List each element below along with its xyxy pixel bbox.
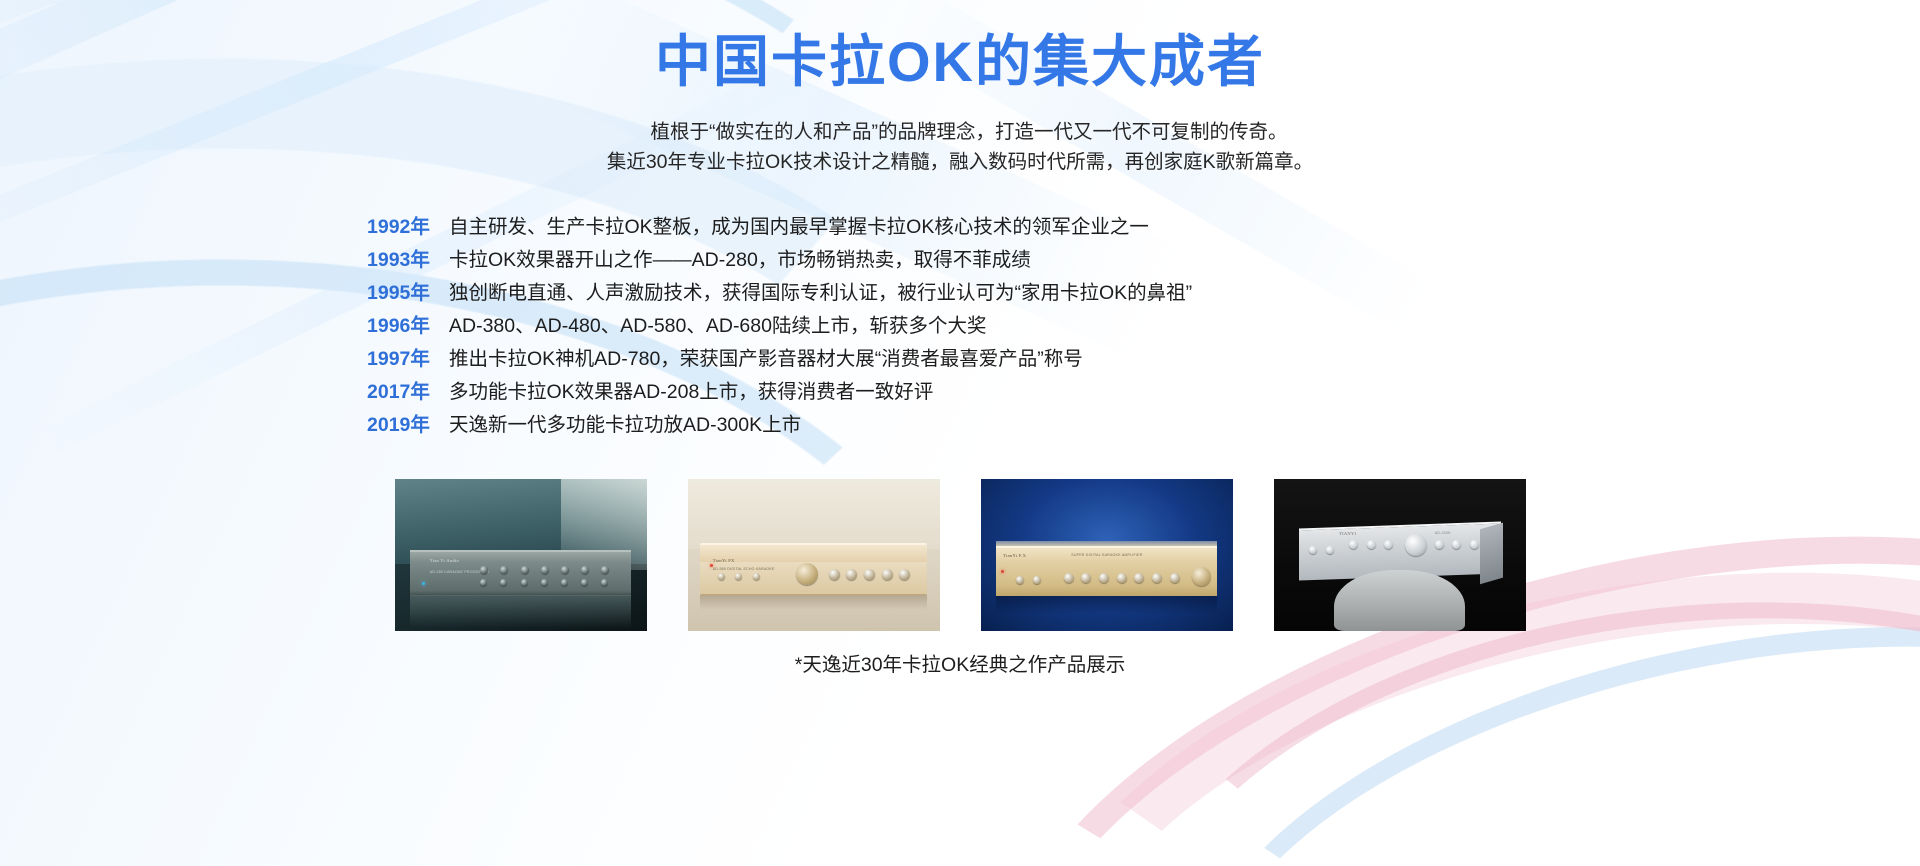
- photo1-knob: [521, 566, 529, 574]
- photo1-brand-text: Tian Yi Audio: [430, 558, 459, 563]
- photo3-knob: [1064, 573, 1074, 583]
- photo1-knob: [541, 579, 548, 586]
- photo1-knob: [480, 566, 488, 574]
- photo2-volume-knob: [796, 563, 818, 585]
- photo3-knob: [1170, 573, 1180, 583]
- photo3-power-led: [1001, 570, 1004, 573]
- photo1-knob: [561, 566, 569, 574]
- photo3-model-text: SUPER DIGITAL KARAOKE AMPLIFIER: [1071, 553, 1142, 557]
- photo4-amplifier-side: [1480, 523, 1503, 584]
- photo4-knob: [1435, 540, 1444, 549]
- timeline-text: 自主研发、生产卡拉OK整板，成为国内最早掌握卡拉OK核心技术的领军企业之一: [441, 210, 1149, 239]
- timeline-row: 1996年 AD-380、AD-480、AD-580、AD-680陆续上市，斩获…: [367, 309, 1367, 341]
- timeline-row: 2019年 天逸新一代多功能卡拉功放AD-300K上市: [367, 408, 1367, 440]
- page-content: 中国卡拉OK的集大成者 植根于“做实在的人和产品”的品牌理念，打造一代又一代不可…: [0, 0, 1920, 866]
- photo4-knob: [1367, 540, 1376, 549]
- photo4-model-text: AD-300K: [1435, 531, 1451, 535]
- timeline-text: 独创断电直通、人声激励技术，获得国际专利认证，被行业认可为“家用卡拉OK的鼻祖”: [441, 276, 1192, 305]
- photo4-brand-text: TIANYI: [1339, 531, 1356, 536]
- photo2-knob: [864, 569, 875, 580]
- photo1-knob: [541, 566, 549, 574]
- photo2-knob: [899, 569, 910, 580]
- timeline-text: 天逸新一代多功能卡拉功放AD-300K上市: [441, 408, 801, 437]
- photo1-knob: [601, 566, 609, 574]
- timeline-year: 1995年: [367, 276, 441, 305]
- timeline-text: AD-380、AD-480、AD-580、AD-680陆续上市，斩获多个大奖: [441, 309, 986, 338]
- timeline-row: 1992年 自主研发、生产卡拉OK整板，成为国内最早掌握卡拉OK核心技术的领军企…: [367, 210, 1367, 242]
- product-photo-1: Tian Yi Audio AD-280 KARAOKE PROCESSOR: [395, 479, 647, 631]
- timeline-row: 1995年 独创断电直通、人声激励技术，获得国际专利认证，被行业认可为“家用卡拉…: [367, 276, 1367, 308]
- intro-line-1: 植根于“做实在的人和产品”的品牌理念，打造一代又一代不可复制的传奇。: [0, 117, 1920, 147]
- photo4-knob: [1349, 540, 1358, 549]
- product-gallery: Tian Yi Audio AD-280 KARAOKE PROCESSOR: [0, 479, 1920, 631]
- milestone-timeline: 1992年 自主研发、生产卡拉OK整板，成为国内最早掌握卡拉OK核心技术的领军企…: [367, 210, 1367, 441]
- timeline-year: 2019年: [367, 408, 441, 437]
- photo1-knob: [500, 566, 508, 574]
- photo4-cloth-stand: [1334, 570, 1465, 631]
- photo2-brand-text: TianYi FX: [713, 558, 735, 563]
- photo4-volume-knob: [1405, 534, 1427, 556]
- photo3-shadow: [996, 596, 1218, 614]
- photo1-knob: [521, 579, 528, 586]
- photo1-knob: [581, 566, 589, 574]
- timeline-text: 推出卡拉OK神机AD-780，荣获国产影音器材大展“消费者最喜爱产品”称号: [441, 342, 1083, 371]
- timeline-year: 2017年: [367, 375, 441, 404]
- intro-paragraph: 植根于“做实在的人和产品”的品牌理念，打造一代又一代不可复制的传奇。 集近30年…: [0, 117, 1920, 177]
- photo3-brand-text: TianYi F.X: [1003, 553, 1026, 558]
- product-photo-4: TIANYI AD-300K: [1274, 479, 1526, 631]
- photo2-knob: [846, 569, 857, 580]
- photo4-knob: [1470, 540, 1479, 549]
- timeline-text: 卡拉OK效果器开山之作——AD-280，市场畅销热卖，取得不菲成绩: [441, 243, 1031, 272]
- photo2-knob: [829, 569, 840, 580]
- photo1-amplifier-reflection: [410, 595, 632, 628]
- photo3-knob: [1016, 576, 1024, 584]
- photo4-knob: [1309, 546, 1317, 554]
- product-photo-3: TianYi F.X SUPER DIGITAL KARAOKE AMPLIFI…: [981, 479, 1233, 631]
- page-title: 中国卡拉OK的集大成者: [0, 30, 1920, 94]
- photo3-knob: [1117, 573, 1127, 583]
- timeline-year: 1993年: [367, 243, 441, 272]
- photo2-backdrop: [688, 479, 940, 549]
- photo2-model-text: AD-580 DIGITAL ECHO KARAOKE: [713, 567, 775, 571]
- timeline-row: 1997年 推出卡拉OK神机AD-780，荣获国产影音器材大展“消费者最喜爱产品…: [367, 342, 1367, 374]
- intro-line-2: 集近30年专业卡拉OK技术设计之精髓，融入数码时代所需，再创家庭K歌新篇章。: [0, 147, 1920, 177]
- photo2-shadow: [700, 595, 927, 610]
- timeline-year: 1992年: [367, 210, 441, 239]
- timeline-row: 2017年 多功能卡拉OK效果器AD-208上市，获得消费者一致好评: [367, 375, 1367, 407]
- timeline-text: 多功能卡拉OK效果器AD-208上市，获得消费者一致好评: [441, 375, 933, 404]
- product-photo-2: TianYi FX AD-580 DIGITAL ECHO KARAOKE: [688, 479, 940, 631]
- photo2-knob: [882, 569, 893, 580]
- timeline-year: 1996年: [367, 309, 441, 338]
- timeline-year: 1997年: [367, 342, 441, 371]
- gallery-caption: *天逸近30年卡拉OK经典之作产品展示: [0, 648, 1920, 677]
- timeline-row: 1993年 卡拉OK效果器开山之作——AD-280，市场畅销热卖，取得不菲成绩: [367, 243, 1367, 275]
- photo2-knob: [718, 573, 725, 580]
